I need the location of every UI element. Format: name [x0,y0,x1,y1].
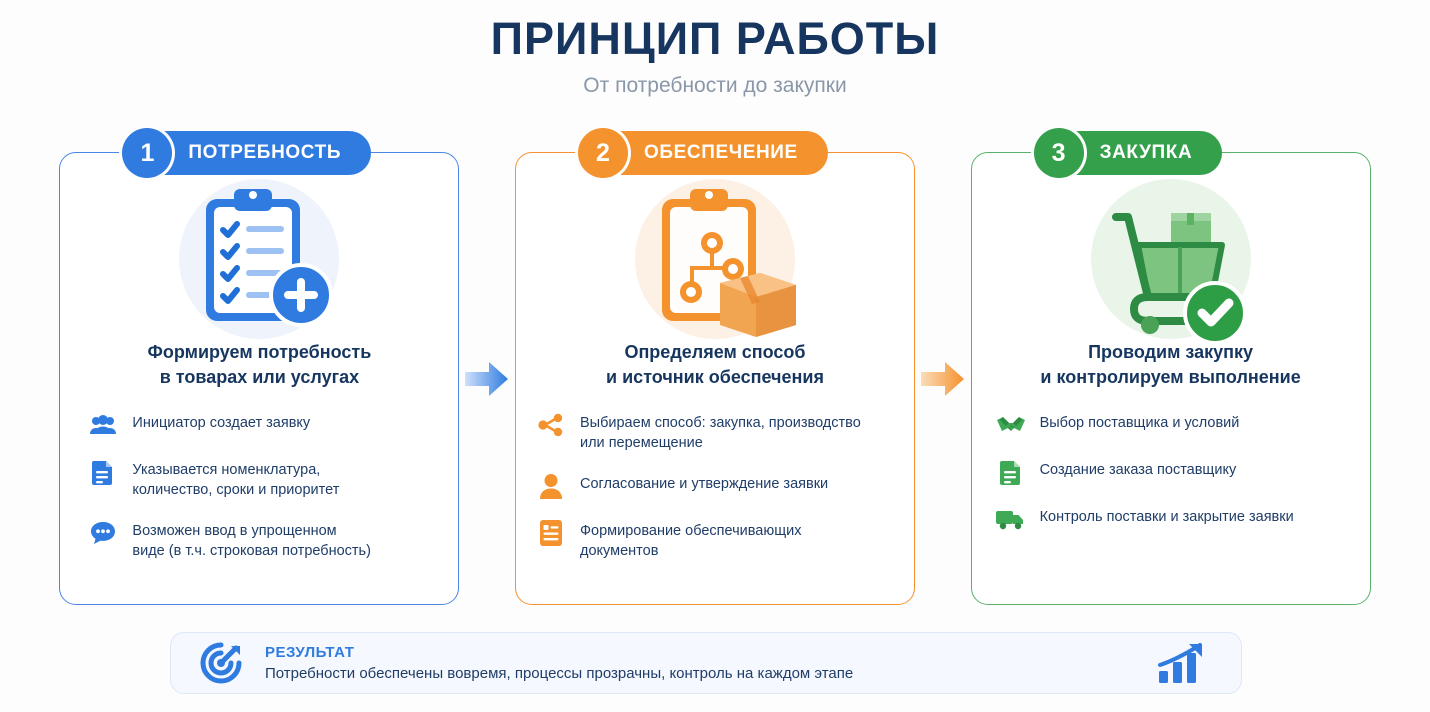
bullet-2-1-line1: Выбираем способ: закупка, производство [580,415,861,431]
list-item: Формирование обеспечивающих документов [534,518,896,562]
list-item: Выбор поставщика и условий [994,410,1348,440]
infographic-page: ПРИНЦИП РАБОТЫ От потребности до закупки… [0,0,1430,712]
document-lines-icon [994,457,1028,487]
stage-header-1: 1 ПОТРЕБНОСТЬ [122,128,371,178]
shopping-cart-check-icon [972,153,1370,338]
clipboard-flowchart-box-icon [516,153,914,338]
list-item: Инициатор создает заявку [86,410,432,440]
stage-card-slot-2: 2 ОБЕСПЕЧЕНИЕ [515,152,915,605]
list-item-text: Выбор поставщика и условий [1040,410,1240,434]
list-item-text: Согласование и утверждение заявки [580,471,828,495]
stage-heading-1: Формируем потребность в товарах или услу… [60,340,458,390]
stage-card-3[interactable]: 3 ЗАКУПКА [971,152,1371,605]
page-header: ПРИНЦИП РАБОТЫ От потребности до закупки [0,0,1430,98]
list-item-text: Создание заказа поставщику [1040,457,1237,481]
page-title: ПРИНЦИП РАБОТЫ [0,14,1430,64]
list-item-text: Формирование обеспечивающих документов [580,518,802,562]
result-description: Потребности обеспечены вовремя, процессы… [265,665,1147,682]
stage-bullets-2: Выбираем способ: закупка, производство и… [516,410,914,562]
arrow-right-icon [921,359,965,399]
list-item-text: Выбираем способ: закупка, производство и… [580,410,861,454]
clipboard-checklist-plus-icon [60,153,458,338]
list-item: Согласование и утверждение заявки [534,471,896,501]
stage-bullets-3: Выбор поставщика и условий Создание зака… [972,410,1370,534]
target-arrow-icon [195,640,247,686]
people-group-icon [86,410,120,440]
person-icon [534,471,568,501]
stage-heading-1-line1: Формируем потребность [78,340,440,365]
bullet-2-3-line2: документов [580,543,658,559]
list-item-text: Указывается номенклатура, количество, ср… [132,457,339,501]
result-banner: РЕЗУЛЬТАТ Потребности обеспечены вовремя… [170,632,1242,694]
stage-bullets-1: Инициатор создает заявку Указывается ном… [60,410,458,562]
bullet-1-1-line1: Инициатор создает заявку [132,415,310,431]
delivery-truck-icon [994,504,1028,534]
bullet-3-1-line1: Выбор поставщика и условий [1040,415,1240,431]
stage-card-2[interactable]: 2 ОБЕСПЕЧЕНИЕ [515,152,915,605]
bullet-2-1-line2: или перемещение [580,435,703,451]
stage-heading-2: Определяем способ и источник обеспечения [516,340,914,390]
stage-card-slot-3: 3 ЗАКУПКА [971,152,1371,605]
list-item: Создание заказа поставщику [994,457,1348,487]
list-item: Возможен ввод в упрощенном виде (в т.ч. … [86,518,432,562]
document-list-icon [534,518,568,548]
result-label: РЕЗУЛЬТАТ [265,644,354,661]
bullet-1-3-line2: виде (в т.ч. строковая потребность) [132,543,371,559]
list-item: Контроль поставки и закрытие заявки [994,504,1348,534]
bullet-3-3-line1: Контроль поставки и закрытие заявки [1040,509,1294,525]
stage-card-1[interactable]: 1 ПОТРЕБНОСТЬ [59,152,459,605]
stage-header-2: 2 ОБЕСПЕЧЕНИЕ [578,128,828,178]
stage-card-slot-1: 1 ПОТРЕБНОСТЬ [59,152,459,605]
bullet-3-2-line1: Создание заказа поставщику [1040,462,1237,478]
stage-heading-2-line1: Определяем способ [534,340,896,365]
bullet-2-2-line1: Согласование и утверждение заявки [580,476,828,492]
stage-number-badge-3: 3 [1034,128,1084,178]
bullet-1-2-line2: количество, сроки и приоритет [132,482,339,498]
growth-bar-chart-icon [1147,641,1217,685]
list-item: Выбираем способ: закупка, производство и… [534,410,896,454]
connector-2 [915,152,971,605]
list-item-text: Возможен ввод в упрощенном виде (в т.ч. … [132,518,371,562]
list-item-text: Инициатор создает заявку [132,410,310,434]
page-subtitle: От потребности до закупки [0,74,1430,98]
stage-heading-3-line2: и контролируем выполнение [990,365,1352,390]
handshake-icon [994,410,1028,440]
arrow-right-icon [465,359,509,399]
list-item: Указывается номенклатура, количество, ср… [86,457,432,501]
document-lines-icon [86,457,120,487]
bullet-2-3-line1: Формирование обеспечивающих [580,523,802,539]
stage-number-badge-2: 2 [578,128,628,178]
bullet-1-3-line1: Возможен ввод в упрощенном [132,523,336,539]
bullet-1-2-line1: Указывается номенклатура, [132,462,320,478]
stage-heading-2-line2: и источник обеспечения [534,365,896,390]
list-item-text: Контроль поставки и закрытие заявки [1040,504,1294,528]
result-text-group: РЕЗУЛЬТАТ Потребности обеспечены вовремя… [265,644,1147,682]
stage-heading-3-line1: Проводим закупку [990,340,1352,365]
stage-cards-row: 1 ПОТРЕБНОСТЬ [0,152,1430,605]
stage-heading-1-line2: в товарах или услугах [78,365,440,390]
stage-heading-3: Проводим закупку и контролируем выполнен… [972,340,1370,390]
connector-1 [459,152,515,605]
share-nodes-icon [534,410,568,440]
speech-bubble-icon [86,518,120,548]
stage-header-3: 3 ЗАКУПКА [1034,128,1223,178]
